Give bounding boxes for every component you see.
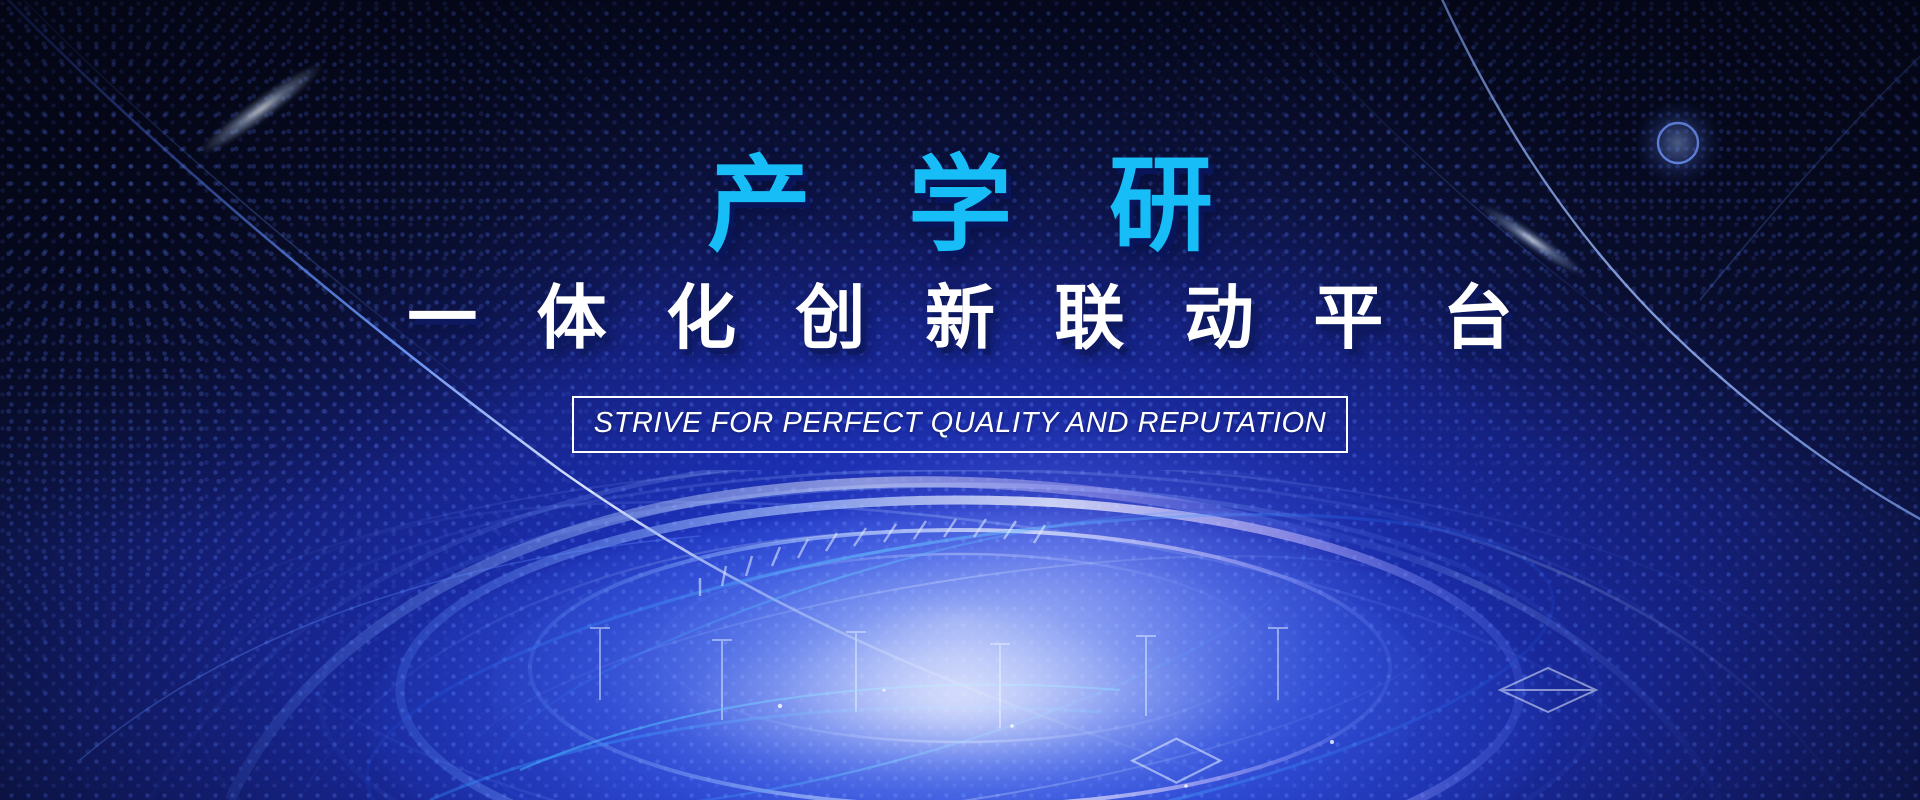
- tagline-text: STRIVE FOR PERFECT QUALITY AND REPUTATIO…: [594, 407, 1327, 440]
- banner-hero: 产 学 研 一 体 化 创 新 联 动 平 台 STRIVE FOR PERFE…: [0, 0, 1920, 800]
- tagline-box: STRIVE FOR PERFECT QUALITY AND REPUTATIO…: [572, 396, 1349, 453]
